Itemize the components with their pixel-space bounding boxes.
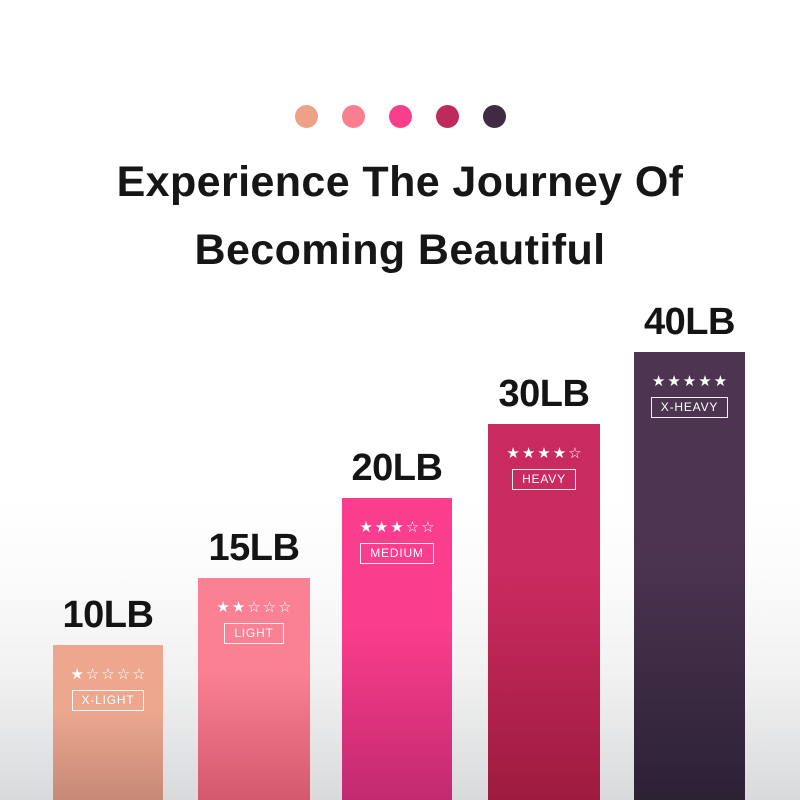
star-empty-icon: ☆ <box>263 600 276 615</box>
star-filled-icon: ★ <box>70 667 83 682</box>
star-filled-icon: ★ <box>522 446 535 461</box>
star-rating: ★★★★★ <box>652 374 727 389</box>
bar-value-label: 10LB <box>63 594 154 637</box>
star-filled-icon: ★ <box>537 446 550 461</box>
resistance-level-label: X-HEAVY <box>651 397 728 418</box>
star-empty-icon: ☆ <box>406 520 419 535</box>
star-filled-icon: ★ <box>359 520 372 535</box>
bar[interactable]: ★☆☆☆☆X-LIGHT <box>53 645 163 800</box>
star-empty-icon: ☆ <box>132 667 145 682</box>
star-filled-icon: ★ <box>667 374 680 389</box>
star-empty-icon: ☆ <box>101 667 114 682</box>
bar-fill <box>634 352 745 800</box>
bar-value-label: 20LB <box>352 447 443 490</box>
bar[interactable]: ★★★★☆HEAVY <box>488 424 600 800</box>
star-rating: ★☆☆☆☆ <box>70 667 145 682</box>
bar-badge: ★☆☆☆☆X-LIGHT <box>53 667 163 711</box>
star-filled-icon: ★ <box>506 446 519 461</box>
bar-group[interactable]: 30LB★★★★☆HEAVY <box>488 424 600 800</box>
bar-group[interactable]: 10LB★☆☆☆☆X-LIGHT <box>53 645 163 800</box>
bar-value-label: 40LB <box>644 301 735 344</box>
star-empty-icon: ☆ <box>421 520 434 535</box>
star-empty-icon: ☆ <box>117 667 130 682</box>
bar-group[interactable]: 20LB★★★☆☆MEDIUM <box>342 498 452 800</box>
star-empty-icon: ☆ <box>568 446 581 461</box>
star-rating: ★★★☆☆ <box>359 520 434 535</box>
bar[interactable]: ★★☆☆☆LIGHT <box>198 578 310 800</box>
bar-badge: ★★★★☆HEAVY <box>488 446 600 490</box>
star-filled-icon: ★ <box>216 600 229 615</box>
star-empty-icon: ☆ <box>86 667 99 682</box>
bar-value-label: 30LB <box>499 373 590 416</box>
resistance-level-label: HEAVY <box>512 469 576 490</box>
bar-value-label: 15LB <box>209 527 300 570</box>
star-filled-icon: ★ <box>390 520 403 535</box>
star-rating: ★★☆☆☆ <box>216 600 291 615</box>
star-filled-icon: ★ <box>553 446 566 461</box>
bar-group[interactable]: 40LB★★★★★X-HEAVY <box>634 352 745 800</box>
star-filled-icon: ★ <box>698 374 711 389</box>
star-empty-icon: ☆ <box>247 600 260 615</box>
star-filled-icon: ★ <box>652 374 665 389</box>
bar[interactable]: ★★★★★X-HEAVY <box>634 352 745 800</box>
star-filled-icon: ★ <box>375 520 388 535</box>
bar[interactable]: ★★★☆☆MEDIUM <box>342 498 452 800</box>
bar-group[interactable]: 15LB★★☆☆☆LIGHT <box>198 578 310 800</box>
star-rating: ★★★★☆ <box>506 446 581 461</box>
resistance-level-label: X-LIGHT <box>72 690 145 711</box>
resistance-level-label: MEDIUM <box>360 543 433 564</box>
star-filled-icon: ★ <box>683 374 696 389</box>
bar-badge: ★★☆☆☆LIGHT <box>198 600 310 644</box>
promo-banner: Experience The Journey Of Becoming Beaut… <box>0 0 800 800</box>
resistance-level-label: LIGHT <box>224 623 283 644</box>
star-empty-icon: ☆ <box>278 600 291 615</box>
star-filled-icon: ★ <box>232 600 245 615</box>
star-filled-icon: ★ <box>714 374 727 389</box>
resistance-band-bar-chart: 10LB★☆☆☆☆X-LIGHT15LB★★☆☆☆LIGHT20LB★★★☆☆M… <box>0 0 800 800</box>
bar-badge: ★★★★★X-HEAVY <box>634 374 745 418</box>
bar-badge: ★★★☆☆MEDIUM <box>342 520 452 564</box>
